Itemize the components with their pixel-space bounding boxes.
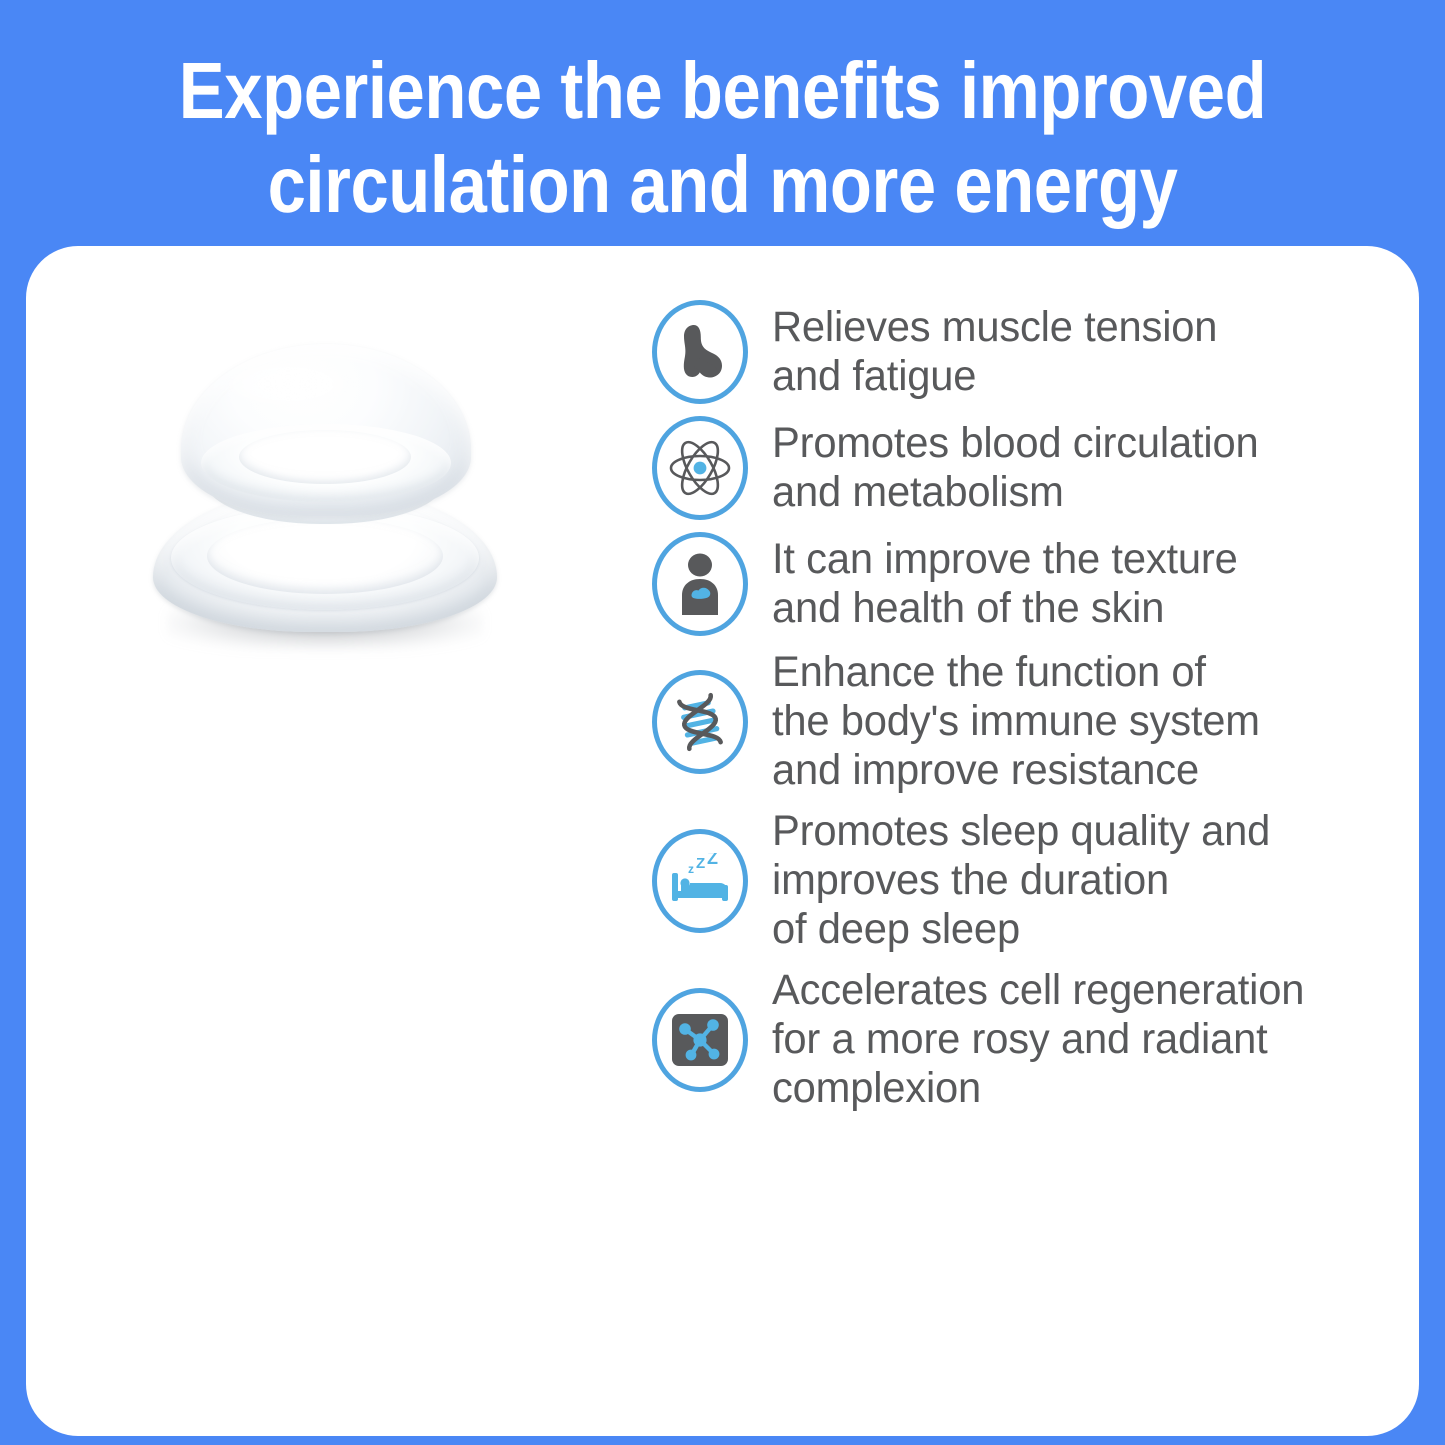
- benefit-label: It can improve the texture and health of…: [772, 535, 1238, 633]
- svg-text:Z: Z: [707, 853, 718, 868]
- benefit-label: Promotes sleep quality and improves the …: [772, 807, 1270, 954]
- product-image: [10, 330, 610, 890]
- benefit-item: Accelerates cell regeneration for a more…: [652, 966, 1412, 1113]
- dna-helix-icon: [652, 670, 748, 774]
- benefit-item: It can improve the texture and health of…: [652, 532, 1412, 636]
- svg-text:z: z: [688, 862, 694, 876]
- benefit-label: Accelerates cell regeneration for a more…: [772, 966, 1304, 1113]
- cup-highlight: [223, 360, 353, 408]
- benefit-label: Enhance the function of the body's immun…: [772, 648, 1260, 795]
- atom-icon: [652, 416, 748, 520]
- benefit-item: Enhance the function of the body's immun…: [652, 648, 1412, 795]
- benefit-item: z Z Z Promotes sleep quality and improve…: [652, 807, 1412, 954]
- svg-text:Z: Z: [696, 855, 705, 872]
- benefit-item: Promotes blood circulation and metabolis…: [652, 416, 1412, 520]
- page-title-line-2: circulation and more energy: [101, 138, 1344, 232]
- benefit-item: Relieves muscle tension and fatigue: [652, 300, 1412, 404]
- flexed-bicep-icon: [652, 300, 748, 404]
- page-title: Experience the benefits improved circula…: [101, 44, 1344, 232]
- cup-upper-inner: [239, 430, 411, 484]
- silicone-cup-graphic: [145, 340, 505, 670]
- bed-sleep-icon: z Z Z: [652, 829, 748, 933]
- cup-lower-inner: [207, 518, 443, 594]
- page-title-line-1: Experience the benefits improved: [101, 44, 1344, 138]
- benefit-label: Promotes blood circulation and metabolis…: [772, 419, 1258, 517]
- molecule-cell-icon: [652, 988, 748, 1092]
- product-benefits-poster: Experience the benefits improved circula…: [0, 0, 1445, 1445]
- benefits-list: Relieves muscle tension and fatigue Prom…: [652, 300, 1412, 1113]
- benefit-label: Relieves muscle tension and fatigue: [772, 303, 1217, 401]
- person-skin-icon: [652, 532, 748, 636]
